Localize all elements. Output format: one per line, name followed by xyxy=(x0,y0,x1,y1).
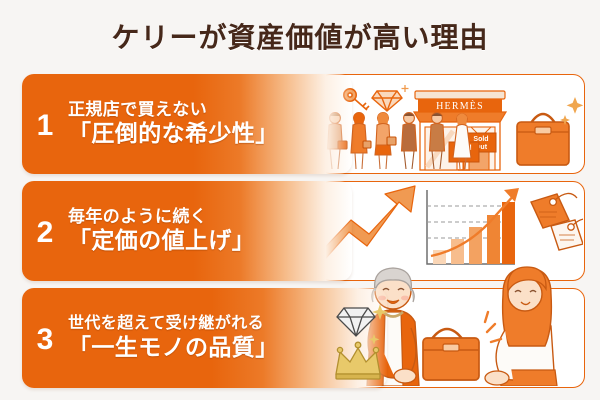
reason-line2-2: 「定価の値上げ」 xyxy=(68,227,255,255)
kelly-bag-icon xyxy=(517,114,569,165)
sparkle-icon xyxy=(369,304,388,345)
reason-line2-3: 「一生モノの品質」 xyxy=(68,334,279,362)
sparkle-icon xyxy=(402,85,409,92)
reason-line1-1: 正規店で買えない xyxy=(68,100,279,120)
bar-chart-icon xyxy=(427,188,519,264)
infographic-page: ケリーが資産価値が高い理由 xyxy=(0,0,600,400)
diamond-icon xyxy=(372,91,402,111)
reason-number-1: 1 xyxy=(22,107,68,141)
diamond-icon xyxy=(337,308,375,336)
reason-row-1: HERMÈS Sold xyxy=(0,74,600,174)
kelly-bag-icon xyxy=(423,329,479,380)
crown-icon xyxy=(336,342,380,379)
reason-bar-2[interactable]: 2 毎年のように続く 「定価の値上げ」 xyxy=(22,181,352,281)
hermes-storefront-queue-illustration: HERMÈS Sold xyxy=(319,75,583,172)
reason-line1-3: 世代を超えて受け継がれる xyxy=(68,315,279,333)
reason-number-2: 2 xyxy=(22,214,68,248)
reason-row-3: 3 世代を超えて受け継がれる 「一生モノの品質」 xyxy=(0,288,600,388)
page-title: ケリーが資産価値が高い理由 xyxy=(0,16,600,56)
reason-line2-1: 「圧倒的な希少性」 xyxy=(68,120,279,148)
reason-number-3: 3 xyxy=(22,321,68,355)
sparkle-icon xyxy=(560,97,583,125)
illustration-card-1: HERMÈS Sold xyxy=(318,74,585,174)
sparkle-icon xyxy=(485,312,501,342)
diamond-crown-icons xyxy=(330,302,400,380)
reason-bar-1[interactable]: 1 正規店で買えない 「圧倒的な希少性」 xyxy=(22,74,352,174)
svg-text:HERMÈS: HERMÈS xyxy=(436,100,484,112)
reason-line1-2: 毎年のように続く xyxy=(68,207,255,227)
young-woman xyxy=(485,267,557,386)
